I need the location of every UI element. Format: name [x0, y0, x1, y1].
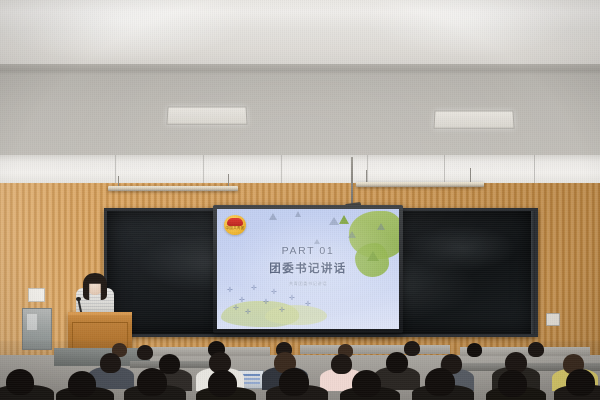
slide-decor-triangle-outline: [295, 211, 301, 217]
audience-head: [425, 368, 455, 396]
audience-head: [467, 343, 482, 357]
ceiling-panel-light-right: [433, 111, 514, 129]
slide-decor-blob: [265, 305, 327, 325]
slide-decor-triangle-outline: [314, 239, 320, 244]
ceiling-panel-light-left: [166, 107, 247, 125]
board-light-hanger: [470, 168, 471, 183]
classroom-photo-scene: ✛ ✛ ✛ ✛ ✛ ✛ ✛ ✛ ✛ ✛ 中国共青团 PART 01 团委书记讲话…: [0, 0, 600, 400]
audience-head: [386, 352, 408, 373]
audience-head: [68, 371, 96, 397]
audience-head: [352, 370, 381, 397]
emblem-label: 中国共青团: [224, 226, 246, 231]
microphone-head-icon: [76, 297, 81, 301]
audience-head: [279, 368, 309, 396]
audience-head: [566, 369, 595, 396]
audience-area: [0, 341, 600, 400]
board-light-left: [108, 186, 238, 191]
audience-head: [404, 341, 420, 356]
audience-head: [498, 370, 527, 397]
audience-head: [137, 368, 167, 396]
ceiling-upper-surface: [0, 0, 600, 66]
slide-subtitle: 共青团委书记讲话: [217, 281, 399, 287]
wall-notice: [28, 288, 45, 302]
audience-head: [6, 369, 34, 395]
audience-head: [528, 342, 544, 357]
slide-text-block: PART 01 团委书记讲话 共青团委书记讲话: [217, 245, 399, 287]
audience-head: [100, 353, 121, 373]
board-light-right: [356, 182, 484, 187]
slide-part-label: PART 01: [217, 245, 399, 257]
audience-head: [137, 345, 153, 360]
slide-decor-triangle-outline: [377, 223, 385, 230]
slide-decor-triangle-outline: [269, 213, 277, 220]
slide-decor-triangle: [339, 215, 349, 224]
slide-decor-triangle-outline: [348, 231, 356, 238]
desk-row: [300, 345, 450, 354]
slide-canvas: ✛ ✛ ✛ ✛ ✛ ✛ ✛ ✛ ✛ ✛ 中国共青团 PART 01 团委书记讲话…: [217, 209, 399, 329]
power-outlet: [546, 313, 560, 326]
projector-mount-rod: [351, 157, 353, 205]
audience-head: [331, 354, 352, 374]
projection-screen[interactable]: ✛ ✛ ✛ ✛ ✛ ✛ ✛ ✛ ✛ ✛ 中国共青团 PART 01 团委书记讲话…: [213, 205, 403, 333]
youth-league-emblem-icon: 中国共青团: [224, 215, 246, 235]
audience-head: [208, 370, 237, 397]
slide-decor-triangle-outline: [329, 217, 339, 225]
slide-title: 团委书记讲话: [217, 260, 399, 276]
